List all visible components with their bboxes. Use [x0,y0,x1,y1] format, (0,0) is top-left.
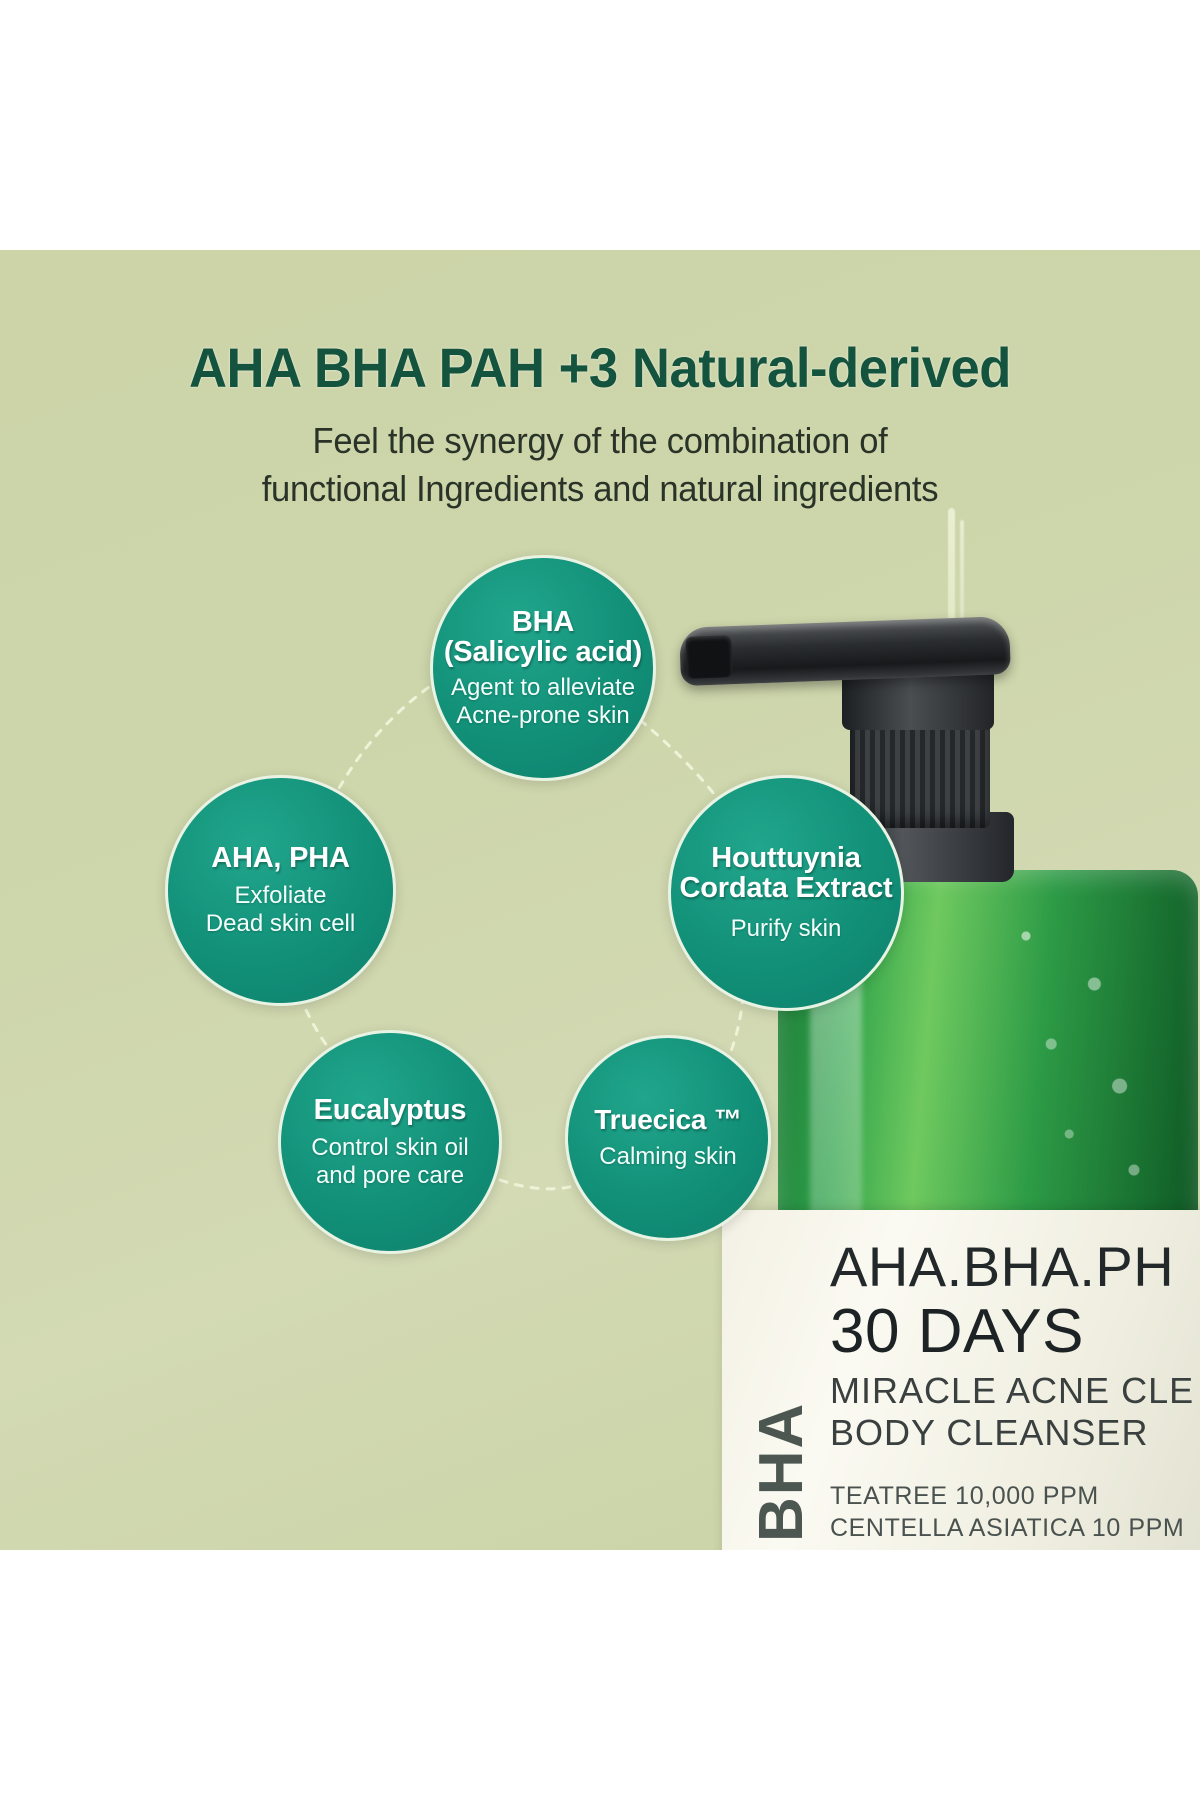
ingredient-bubble-aha-pha[interactable]: AHA, PHA Exfoliate Dead skin cell [165,775,396,1006]
bubble-title-houttuynia-line1: Houttuynia [711,843,860,873]
bubble-title-truecica: Truecica ™ [594,1105,741,1134]
bubble-desc-aha-pha-line1: Exfoliate [234,882,326,910]
ingredient-bubble-eucalyptus[interactable]: Eucalyptus Control skin oil and pore car… [278,1030,502,1254]
bubble-desc-eucalyptus-line1: Control skin oil [311,1134,468,1162]
bubble-desc-houttuynia: Purify skin [731,915,842,943]
ingredient-bubble-truecica[interactable]: Truecica ™ Calming skin [565,1035,771,1241]
infographic-page: AHA BHA PAH +3 Natural-derived Feel the … [0,0,1200,1800]
bubble-title-aha-pha: AHA, PHA [211,843,350,873]
bubble-desc-truecica: Calming skin [599,1143,736,1171]
bubble-desc-aha-pha-line2: Dead skin cell [206,910,355,938]
bubble-title-bha-line1: BHA [512,607,574,637]
infographic-panel: AHA BHA PAH +3 Natural-derived Feel the … [0,250,1200,1550]
ingredient-bubble-bha[interactable]: BHA (Salicylic acid) Agent to alleviate … [430,555,656,781]
bubble-desc-eucalyptus-line2: and pore care [316,1162,464,1190]
bubble-desc-bha-line2: Acne-prone skin [456,702,629,730]
bubble-title-bha-line2: (Salicylic acid) [444,637,642,667]
bubble-title-houttuynia-line2: Cordata Extract [680,873,893,903]
ingredient-bubble-houttuynia[interactable]: Houttuynia Cordata Extract Purify skin [668,775,904,1011]
bubble-title-eucalyptus: Eucalyptus [314,1095,467,1125]
bubble-desc-bha-line1: Agent to alleviate [451,674,635,702]
